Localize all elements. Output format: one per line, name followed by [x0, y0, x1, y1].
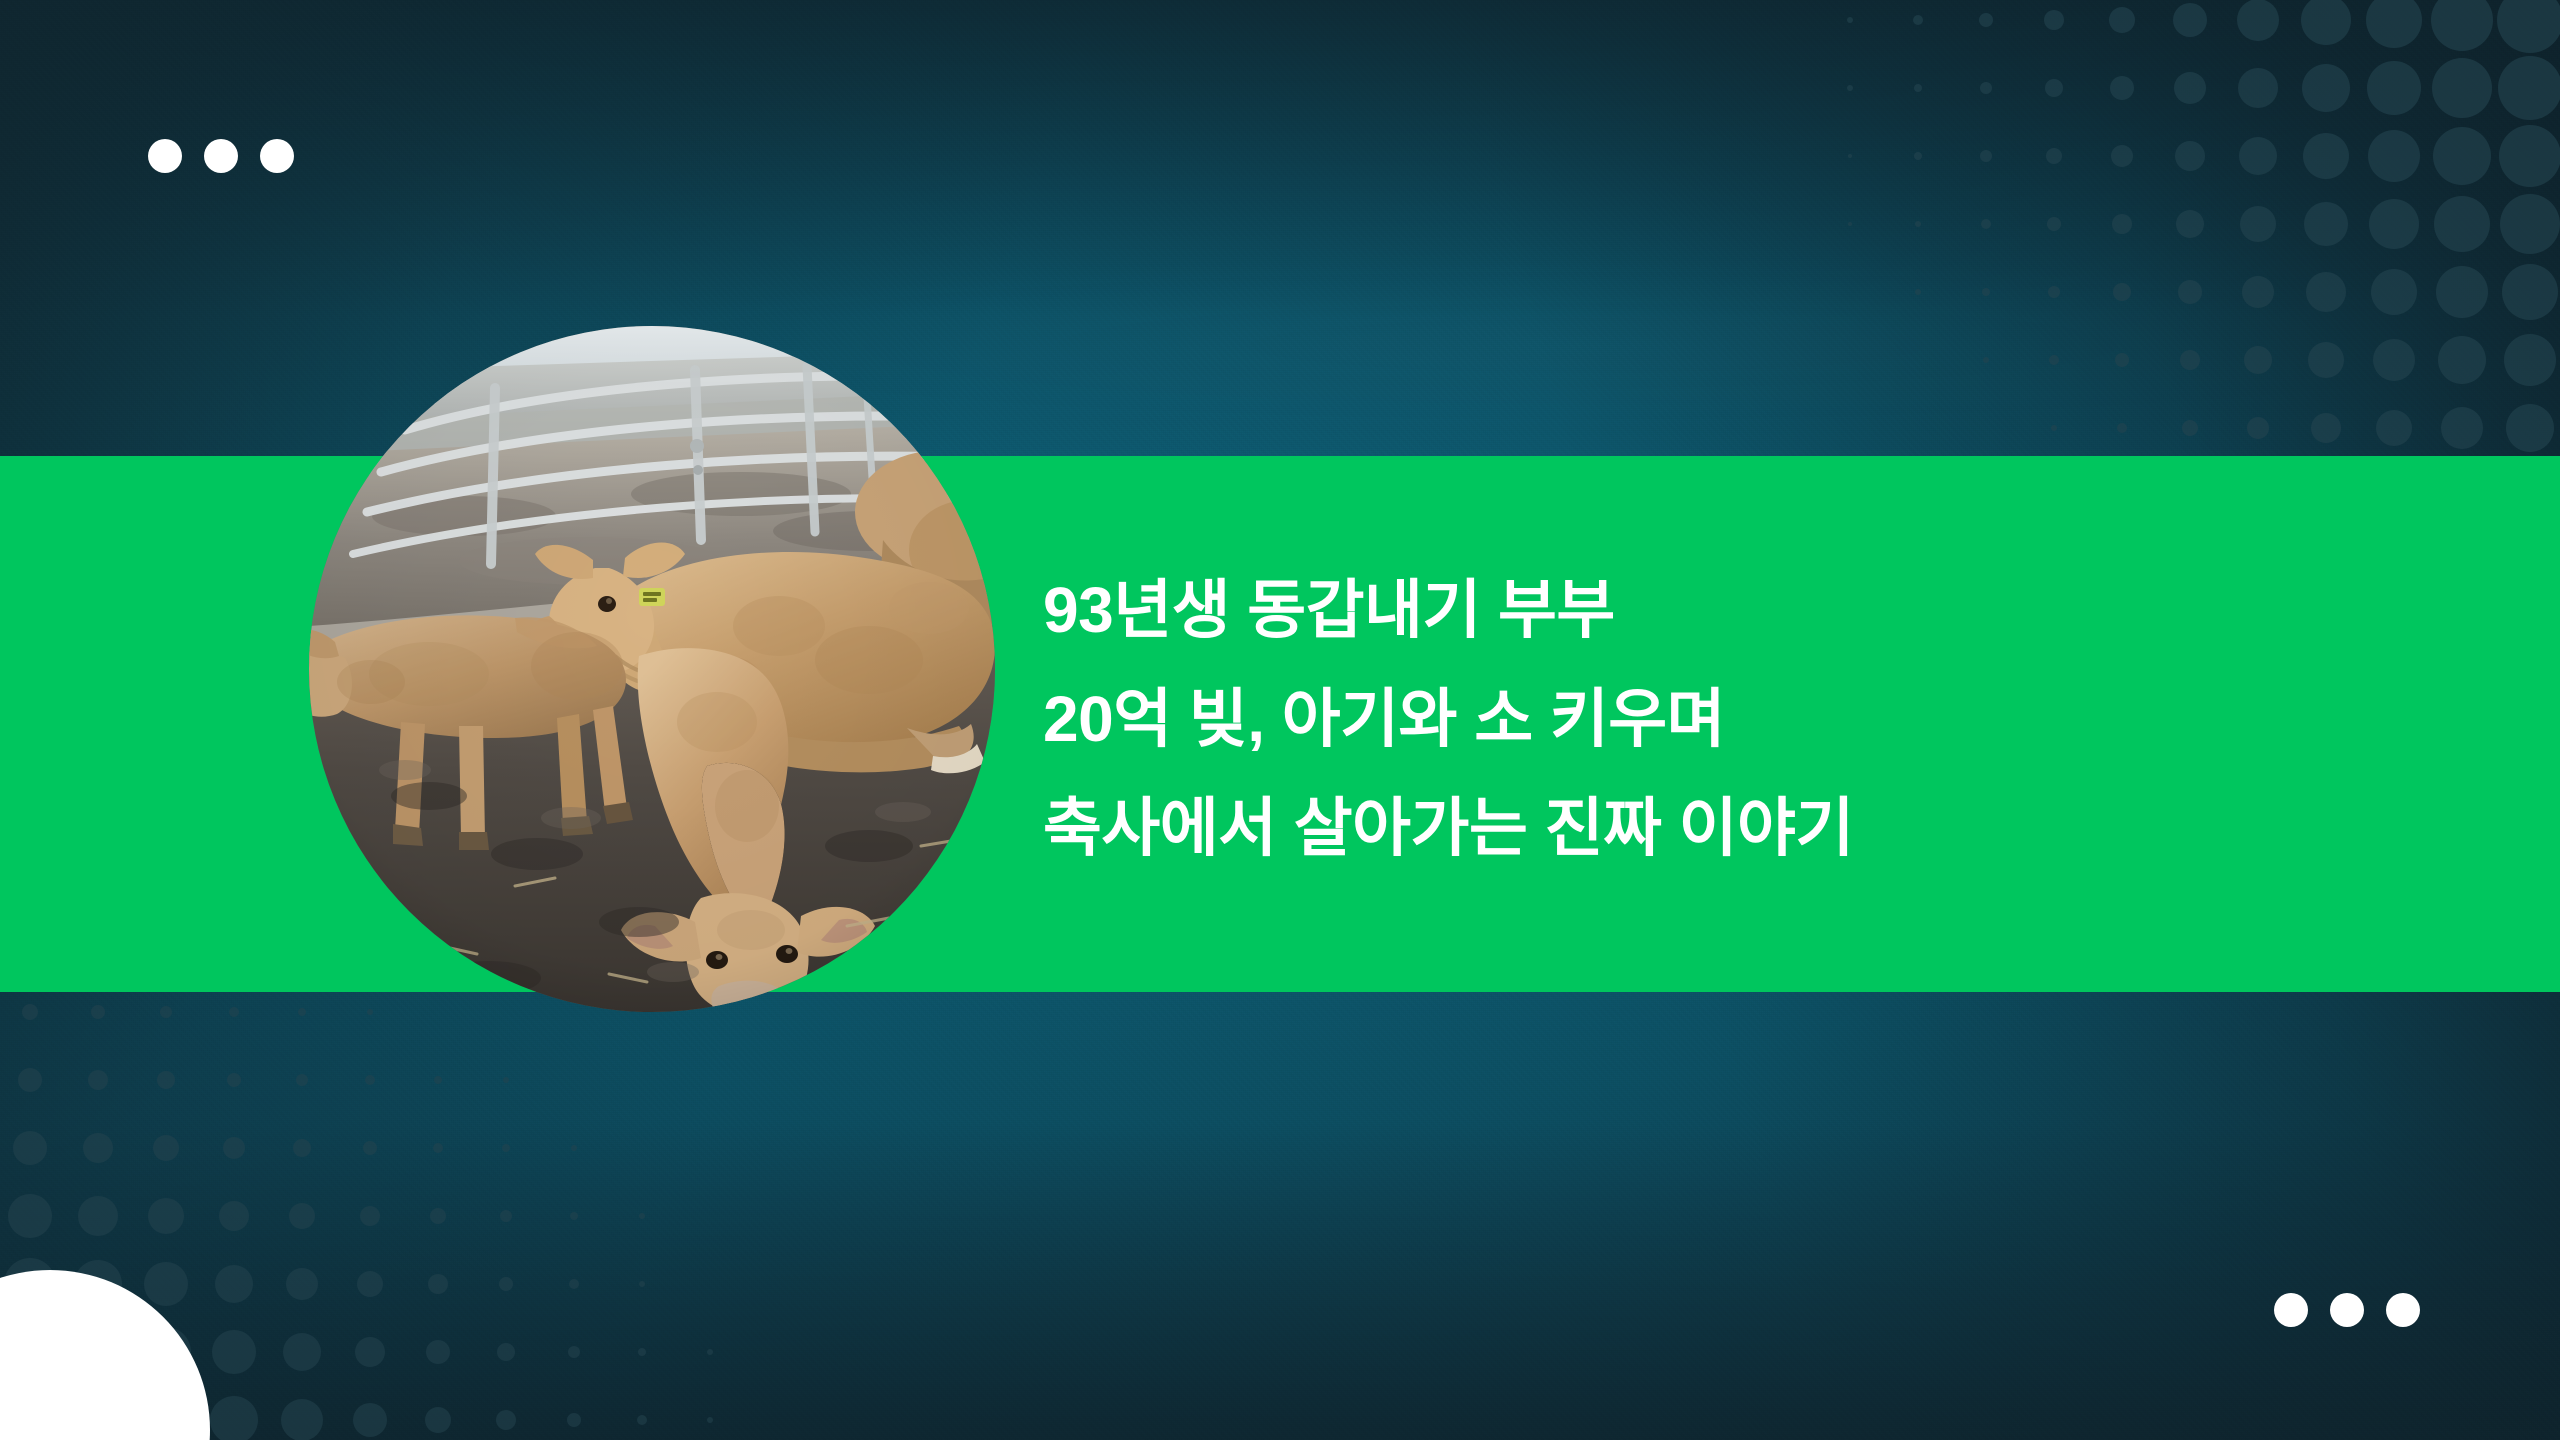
dot-2: [2330, 1293, 2364, 1327]
headline-line-2: 20억 빚, 아기와 소 키우며: [1043, 665, 2343, 774]
dot-3: [260, 139, 294, 173]
dot-2: [204, 139, 238, 173]
dot-1: [2274, 1293, 2308, 1327]
cattle-photo-circle: [309, 326, 995, 1012]
dot-1: [148, 139, 182, 173]
headline-line-3: 축사에서 살아가는 진짜 이야기: [1043, 774, 2343, 883]
thumbnail-canvas: 93년생 동갑내기 부부 20억 빚, 아기와 소 키우며 축사에서 살아가는 …: [0, 0, 2560, 1440]
dot-3: [2386, 1293, 2420, 1327]
headline-line-1: 93년생 동갑내기 부부: [1043, 556, 2343, 665]
headline-block: 93년생 동갑내기 부부 20억 빚, 아기와 소 키우며 축사에서 살아가는 …: [1043, 556, 2343, 883]
three-dots-icon-bottom-right: [2274, 1293, 2420, 1327]
three-dots-icon-top-left: [148, 139, 294, 173]
